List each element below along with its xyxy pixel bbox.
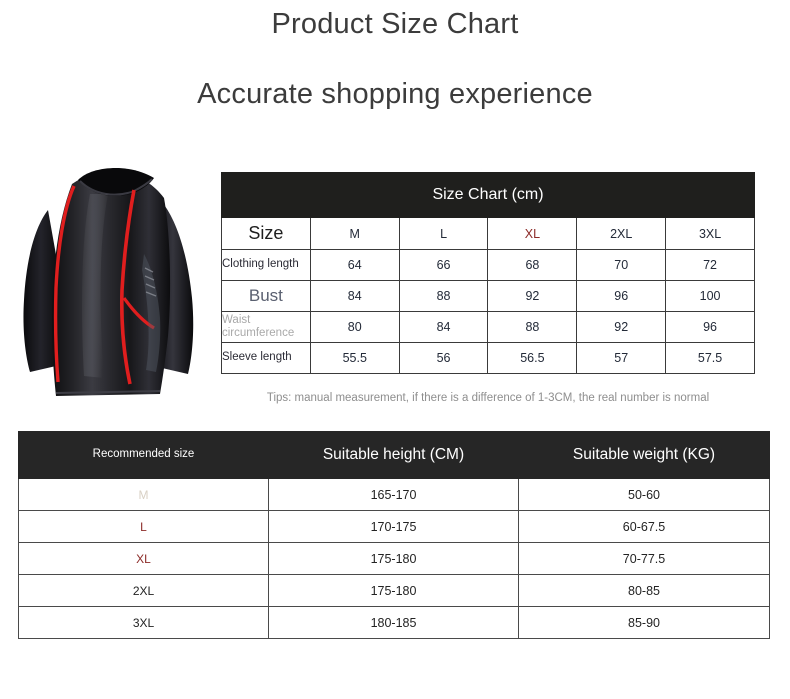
recommendation-header-row: Recommended size Suitable height (CM) Su… bbox=[19, 432, 770, 479]
rec-size-3xl: 3XL bbox=[19, 607, 269, 639]
size-chart-row: Bust 84 88 92 96 100 bbox=[222, 281, 755, 312]
size-chart-col-3xl: 3XL bbox=[666, 218, 755, 250]
rec-height-l: 170-175 bbox=[269, 511, 519, 543]
rec-height-3xl: 180-185 bbox=[269, 607, 519, 639]
size-chart-row: Waist circumference 80 84 88 92 96 bbox=[222, 312, 755, 343]
rec-weight-2xl: 80-85 bbox=[519, 575, 770, 607]
size-chart-col-xl: XL bbox=[488, 218, 577, 250]
cell-clothing-length-2xl: 70 bbox=[577, 250, 666, 281]
product-photo bbox=[12, 150, 212, 412]
cell-waist-xl: 88 bbox=[488, 312, 577, 343]
table-row: XL 175-180 70-77.5 bbox=[19, 543, 770, 575]
cell-waist-3xl: 96 bbox=[666, 312, 755, 343]
cell-sleeve-3xl: 57.5 bbox=[666, 343, 755, 374]
cell-bust-xl: 92 bbox=[488, 281, 577, 312]
size-chart-header-row: Size M L XL 2XL 3XL bbox=[222, 218, 755, 250]
size-chart-row: Sleeve length 55.5 56 56.5 57 57.5 bbox=[222, 343, 755, 374]
table-row: L 170-175 60-67.5 bbox=[19, 511, 770, 543]
cell-sleeve-2xl: 57 bbox=[577, 343, 666, 374]
shirt-illustration bbox=[12, 150, 212, 412]
rec-size-l: L bbox=[19, 511, 269, 543]
rec-size-2xl: 2XL bbox=[19, 575, 269, 607]
rec-col-size: Recommended size bbox=[19, 432, 269, 479]
row-label-clothing-length: Clothing length bbox=[222, 250, 311, 281]
cell-clothing-length-m: 64 bbox=[310, 250, 399, 281]
row-label-bust: Bust bbox=[222, 281, 311, 312]
page-subtitle: Accurate shopping experience bbox=[0, 78, 790, 111]
cell-bust-2xl: 96 bbox=[577, 281, 666, 312]
size-chart-col-l: L bbox=[399, 218, 488, 250]
cell-bust-m: 84 bbox=[310, 281, 399, 312]
cell-waist-m: 80 bbox=[310, 312, 399, 343]
rec-height-2xl: 175-180 bbox=[269, 575, 519, 607]
rec-size-m: M bbox=[19, 479, 269, 511]
rec-col-weight: Suitable weight (KG) bbox=[519, 432, 770, 479]
cell-sleeve-m: 55.5 bbox=[310, 343, 399, 374]
cell-bust-3xl: 100 bbox=[666, 281, 755, 312]
size-chart-col-2xl: 2XL bbox=[577, 218, 666, 250]
cell-bust-l: 88 bbox=[399, 281, 488, 312]
row-label-waist-circumference: Waist circumference bbox=[222, 312, 311, 343]
rec-height-xl: 175-180 bbox=[269, 543, 519, 575]
cell-waist-l: 84 bbox=[399, 312, 488, 343]
recommendation-table: Recommended size Suitable height (CM) Su… bbox=[18, 431, 770, 639]
rec-weight-3xl: 85-90 bbox=[519, 607, 770, 639]
cell-sleeve-l: 56 bbox=[399, 343, 488, 374]
cell-sleeve-xl: 56.5 bbox=[488, 343, 577, 374]
rec-height-m: 165-170 bbox=[269, 479, 519, 511]
rec-weight-m: 50-60 bbox=[519, 479, 770, 511]
rec-weight-l: 60-67.5 bbox=[519, 511, 770, 543]
size-chart-caption: Size Chart (cm) bbox=[222, 173, 755, 218]
size-chart-caption-row: Size Chart (cm) bbox=[222, 173, 755, 218]
rec-col-height: Suitable height (CM) bbox=[269, 432, 519, 479]
size-chart-row: Clothing length 64 66 68 70 72 bbox=[222, 250, 755, 281]
rec-size-xl: XL bbox=[19, 543, 269, 575]
measurement-tips: Tips: manual measurement, if there is a … bbox=[221, 392, 755, 404]
page-title: Product Size Chart bbox=[0, 8, 790, 41]
table-row: M 165-170 50-60 bbox=[19, 479, 770, 511]
rec-weight-xl: 70-77.5 bbox=[519, 543, 770, 575]
size-chart-table: Size Chart (cm) Size M L XL 2XL 3XL Clot… bbox=[221, 172, 755, 374]
cell-waist-2xl: 92 bbox=[577, 312, 666, 343]
row-label-sleeve-length: Sleeve length bbox=[222, 343, 311, 374]
size-chart-page: Product Size Chart Accurate shopping exp… bbox=[0, 0, 790, 699]
size-chart-col-m: M bbox=[310, 218, 399, 250]
size-chart-col-size: Size bbox=[222, 218, 311, 250]
table-row: 2XL 175-180 80-85 bbox=[19, 575, 770, 607]
table-row: 3XL 180-185 85-90 bbox=[19, 607, 770, 639]
cell-clothing-length-3xl: 72 bbox=[666, 250, 755, 281]
cell-clothing-length-xl: 68 bbox=[488, 250, 577, 281]
cell-clothing-length-l: 66 bbox=[399, 250, 488, 281]
